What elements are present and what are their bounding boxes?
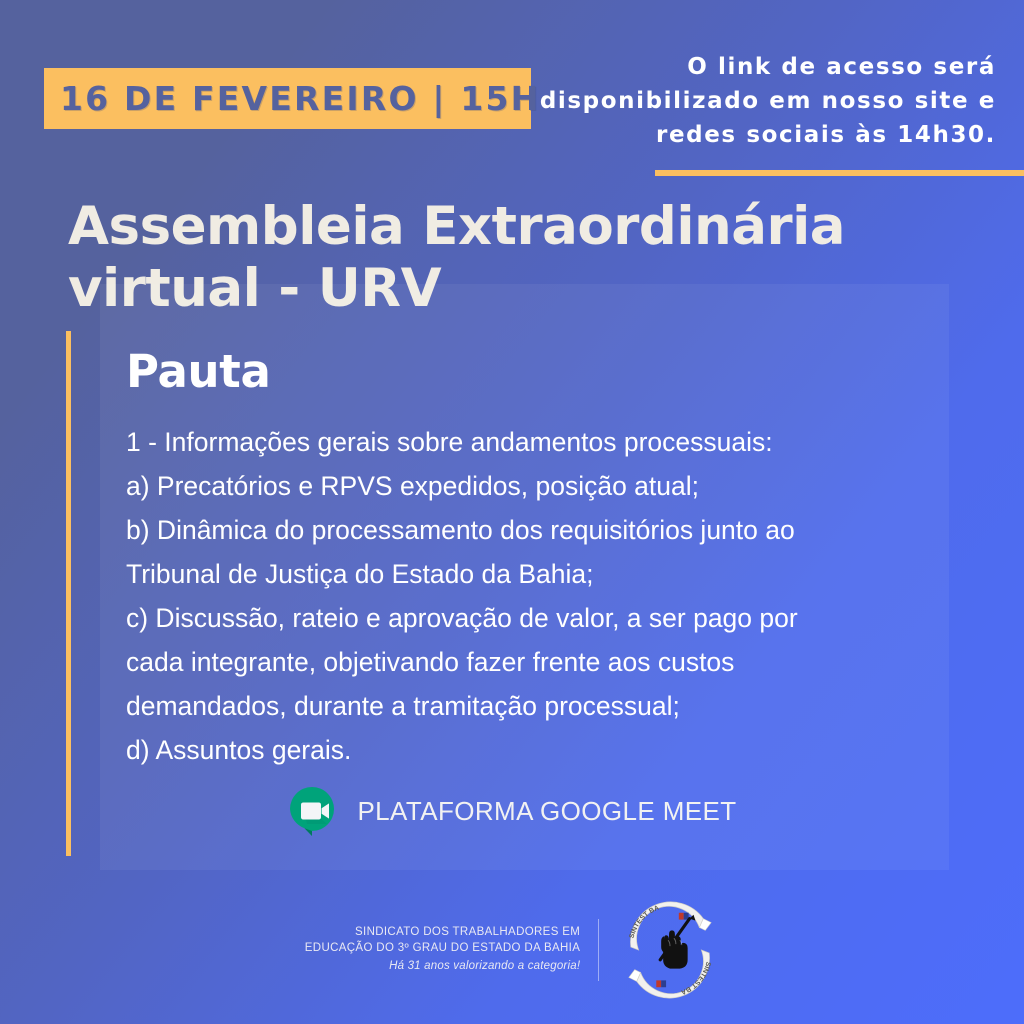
access-note: O link de acesso será disponibilizado em…	[526, 50, 996, 152]
date-badge: 16 DE FEVEREIRO | 15H	[44, 68, 531, 129]
access-note-rule	[655, 170, 1024, 176]
platform-label: PLATAFORMA GOOGLE MEET	[357, 796, 736, 827]
footer-org-text: SINDICATO DOS TRABALHADORES EM EDUCAÇÃO …	[305, 924, 598, 976]
footer-org-line-2: EDUCAÇÃO DO 3º GRAU DO ESTADO DA BAHIA	[305, 940, 580, 956]
agenda-line: 1 - Informações gerais sobre andamentos …	[126, 420, 931, 464]
date-badge-label: 16 DE FEVEREIRO | 15H	[60, 79, 540, 118]
agenda-line: c) Discussão, rateio e aprovação de valo…	[126, 596, 931, 640]
page-title-line-1: Assembleia Extraordinária	[68, 196, 868, 258]
agenda-line: Tribunal de Justiça do Estado da Bahia;	[126, 552, 931, 596]
agenda-line: a) Precatórios e RPVS expedidos, posição…	[126, 464, 931, 508]
footer-org-line-1: SINDICATO DOS TRABALHADORES EM	[305, 924, 580, 940]
agenda-line: demandados, durante a tramitação process…	[126, 684, 931, 728]
google-meet-icon	[287, 784, 341, 838]
agenda-line: cada integrante, objetivando fazer frent…	[126, 640, 931, 684]
sintest-logo-icon: SINTEST BA SINTEST BA	[599, 900, 719, 1000]
agenda-line: d) Assuntos gerais.	[126, 728, 931, 772]
svg-text:SINTEST BA: SINTEST BA	[629, 905, 661, 940]
footer: SINDICATO DOS TRABALHADORES EM EDUCAÇÃO …	[0, 900, 1024, 1000]
agenda-list: 1 - Informações gerais sobre andamentos …	[126, 420, 931, 772]
accent-bar	[66, 331, 71, 856]
footer-tagline: Há 31 anos valorizando a categoria!	[305, 956, 580, 976]
agenda-heading: Pauta	[126, 345, 271, 398]
agenda-line: b) Dinâmica do processamento dos requisi…	[126, 508, 931, 552]
platform-row: PLATAFORMA GOOGLE MEET	[0, 784, 1024, 838]
